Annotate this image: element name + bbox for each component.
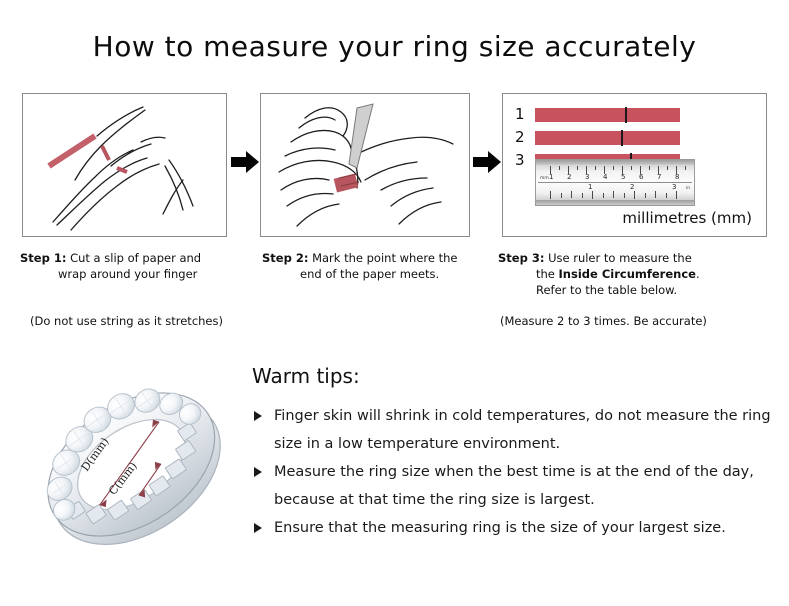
strip-number: 3 [515,151,531,169]
warm-tips-heading: Warm tips: [252,364,772,388]
step-2-caption: Step 2: Mark the point where the end of … [262,250,488,282]
tip-item: Measure the ring size when the best time… [252,458,772,514]
step-1-caption: Step 1: Cut a slip of paper and wrap aro… [20,250,250,282]
step-3-measurement-panel: 1 2 3 mm [502,93,767,237]
page-title: How to measure your ring size accurately [0,30,789,63]
ruler-inch-tick: 2 [630,183,634,191]
tip-item: Finger skin will shrink in cold temperat… [252,402,772,458]
ruler-divider [538,182,692,183]
tip-text: Finger skin will shrink in cold temperat… [274,408,771,452]
step-3-line-1: Use ruler to measure the [548,251,692,265]
hand-marking-paper-drawing [261,94,469,236]
strip-bar [535,108,680,122]
tip-item: Ensure that the measuring ring is the si… [252,514,772,542]
strip-number: 2 [515,128,531,146]
step-3-line-2-prefix: the [536,267,559,281]
step-2-line-1: Mark the point where the [312,251,457,265]
ruler-cm-tick: 8 [675,173,679,181]
ruler-cm-tick: 1 [549,173,553,181]
tip-text: Ensure that the measuring ring is the si… [274,520,726,536]
ring-diagram: D(mm) C(mm) [18,352,248,582]
step-3-label: Step 3: [498,251,544,265]
ruler-inch-tick: 3 [672,183,676,191]
ruler-cm-tick: 4 [603,173,607,181]
ruler-imperial-unit: in [686,186,690,191]
triangle-bullet-icon [254,411,262,421]
step-2-label: Step 2: [262,251,308,265]
ruler-cm-tick: 6 [639,173,643,181]
ruler-illustration: mm 1 2 3 4 5 6 7 8 [535,159,695,206]
step-3-note: (Measure 2 to 3 times. Be accurate) [500,314,707,328]
step-1-note: (Do not use string as it stretches) [30,314,223,328]
step-3-caption: Step 3: Use ruler to measure the the Ins… [498,250,768,298]
strip-number: 1 [515,105,531,123]
step-1-line-2: wrap around your finger [20,266,250,282]
ruler-top-band [536,160,694,165]
ruler-cm-tick: 7 [657,173,661,181]
steps-panel-row: 1 2 3 mm [0,93,789,243]
unit-caption: millimetres (mm) [503,209,752,227]
step-1-illustration-panel [22,93,227,237]
step-3-emphasis: Inside Circumference [559,267,696,281]
step-1-label: Step 1: [20,251,66,265]
ruler-cm-tick: 2 [567,173,571,181]
ruler-inch-tick: 1 [588,183,592,191]
hand-with-paper-slip-drawing [23,94,226,236]
step-3-line-2-suffix: . [696,267,700,281]
tip-text: Measure the ring size when the best time… [274,464,754,508]
strip-bar [535,131,680,145]
strip-mark [625,107,627,123]
strip-mark [621,130,623,146]
ruler-cm-tick: 5 [621,173,625,181]
triangle-bullet-icon [254,523,262,533]
ruler-cm-tick: 3 [585,173,589,181]
step-2-illustration-panel [260,93,470,237]
triangle-bullet-icon [254,467,262,477]
warm-tips-section: Warm tips: Finger skin will shrink in co… [252,364,772,542]
step-2-line-2: end of the paper meets. [262,266,488,282]
ruler-bottom-band [536,200,694,205]
step-3-line-3: Refer to the table below. [498,282,768,298]
ruler-metric-unit: mm [540,176,549,181]
step-1-line-1: Cut a slip of paper and [70,251,201,265]
